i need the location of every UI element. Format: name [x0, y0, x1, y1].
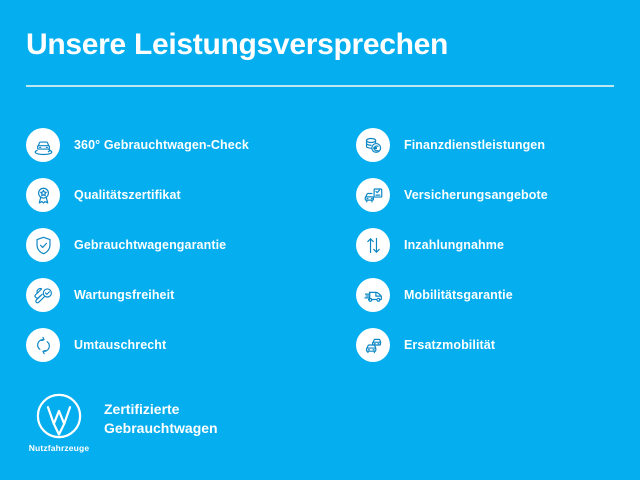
title-divider [26, 85, 614, 87]
feature-item-wartungsfreiheit[interactable]: Wartungsfreiheit [26, 270, 326, 320]
shield-check-icon [26, 228, 60, 262]
brand-claim-line-1: Zertifizierte [104, 400, 218, 419]
promise-panel: Unsere Leistungsversprechen 360° Gebrauc… [0, 0, 640, 480]
feature-item-qualitaetszertifikat[interactable]: Qualitätszertifikat [26, 170, 326, 220]
feature-columns: 360° Gebrauchtwagen-Check Qualitätszerti… [0, 120, 640, 370]
feature-label: Gebrauchtwagengarantie [74, 238, 226, 252]
award-rosette-icon [26, 178, 60, 212]
brand-sub-label: Nutzfahrzeuge [29, 443, 90, 453]
feature-column-right: Finanzdienstleistungen Versicherungsange… [356, 120, 626, 370]
feature-item-finanzdienstleistungen[interactable]: Finanzdienstleistungen [356, 120, 626, 170]
brand-claim: Zertifizierte Gebrauchtwagen [104, 400, 218, 437]
feature-item-versicherungsangebote[interactable]: Versicherungsangebote [356, 170, 626, 220]
feature-label: Versicherungsangebote [404, 188, 548, 202]
volkswagen-roundel-logo [35, 392, 83, 440]
brand-claim-line-2: Gebrauchtwagen [104, 419, 218, 438]
feature-label: 360° Gebrauchtwagen-Check [74, 138, 249, 152]
van-check-icon [356, 278, 390, 312]
two-cars-icon [356, 328, 390, 362]
feature-column-left: 360° Gebrauchtwagen-Check Qualitätszerti… [26, 120, 326, 370]
header: Unsere Leistungsversprechen [26, 28, 614, 61]
feature-label: Finanzdienstleistungen [404, 138, 545, 152]
feature-label: Umtauschrecht [74, 338, 166, 352]
feature-item-umtauschrecht[interactable]: Umtauschrecht [26, 320, 326, 370]
feature-label: Mobilitätsgarantie [404, 288, 513, 302]
wrench-check-icon [26, 278, 60, 312]
coins-euro-icon [356, 128, 390, 162]
feature-item-inzahlungnahme[interactable]: Inzahlungnahme [356, 220, 626, 270]
feature-item-gebrauchtwagen-check[interactable]: 360° Gebrauchtwagen-Check [26, 120, 326, 170]
brand-lockup: Nutzfahrzeuge Zertifizierte Gebrauchtwag… [26, 392, 218, 453]
up-down-arrows-icon [356, 228, 390, 262]
feature-item-ersatzmobilitaet[interactable]: Ersatzmobilität [356, 320, 626, 370]
feature-item-mobilitaetsgarantie[interactable]: Mobilitätsgarantie [356, 270, 626, 320]
feature-item-gebrauchtwagengarantie[interactable]: Gebrauchtwagengarantie [26, 220, 326, 270]
feature-label: Qualitätszertifikat [74, 188, 181, 202]
exchange-arrows-icon [26, 328, 60, 362]
feature-label: Inzahlungnahme [404, 238, 504, 252]
brand-mark: Nutzfahrzeuge [26, 392, 92, 453]
feature-label: Ersatzmobilität [404, 338, 495, 352]
car-document-check-icon [356, 178, 390, 212]
car-360-check-icon [26, 128, 60, 162]
page-title: Unsere Leistungsversprechen [26, 28, 614, 61]
feature-label: Wartungsfreiheit [74, 288, 174, 302]
